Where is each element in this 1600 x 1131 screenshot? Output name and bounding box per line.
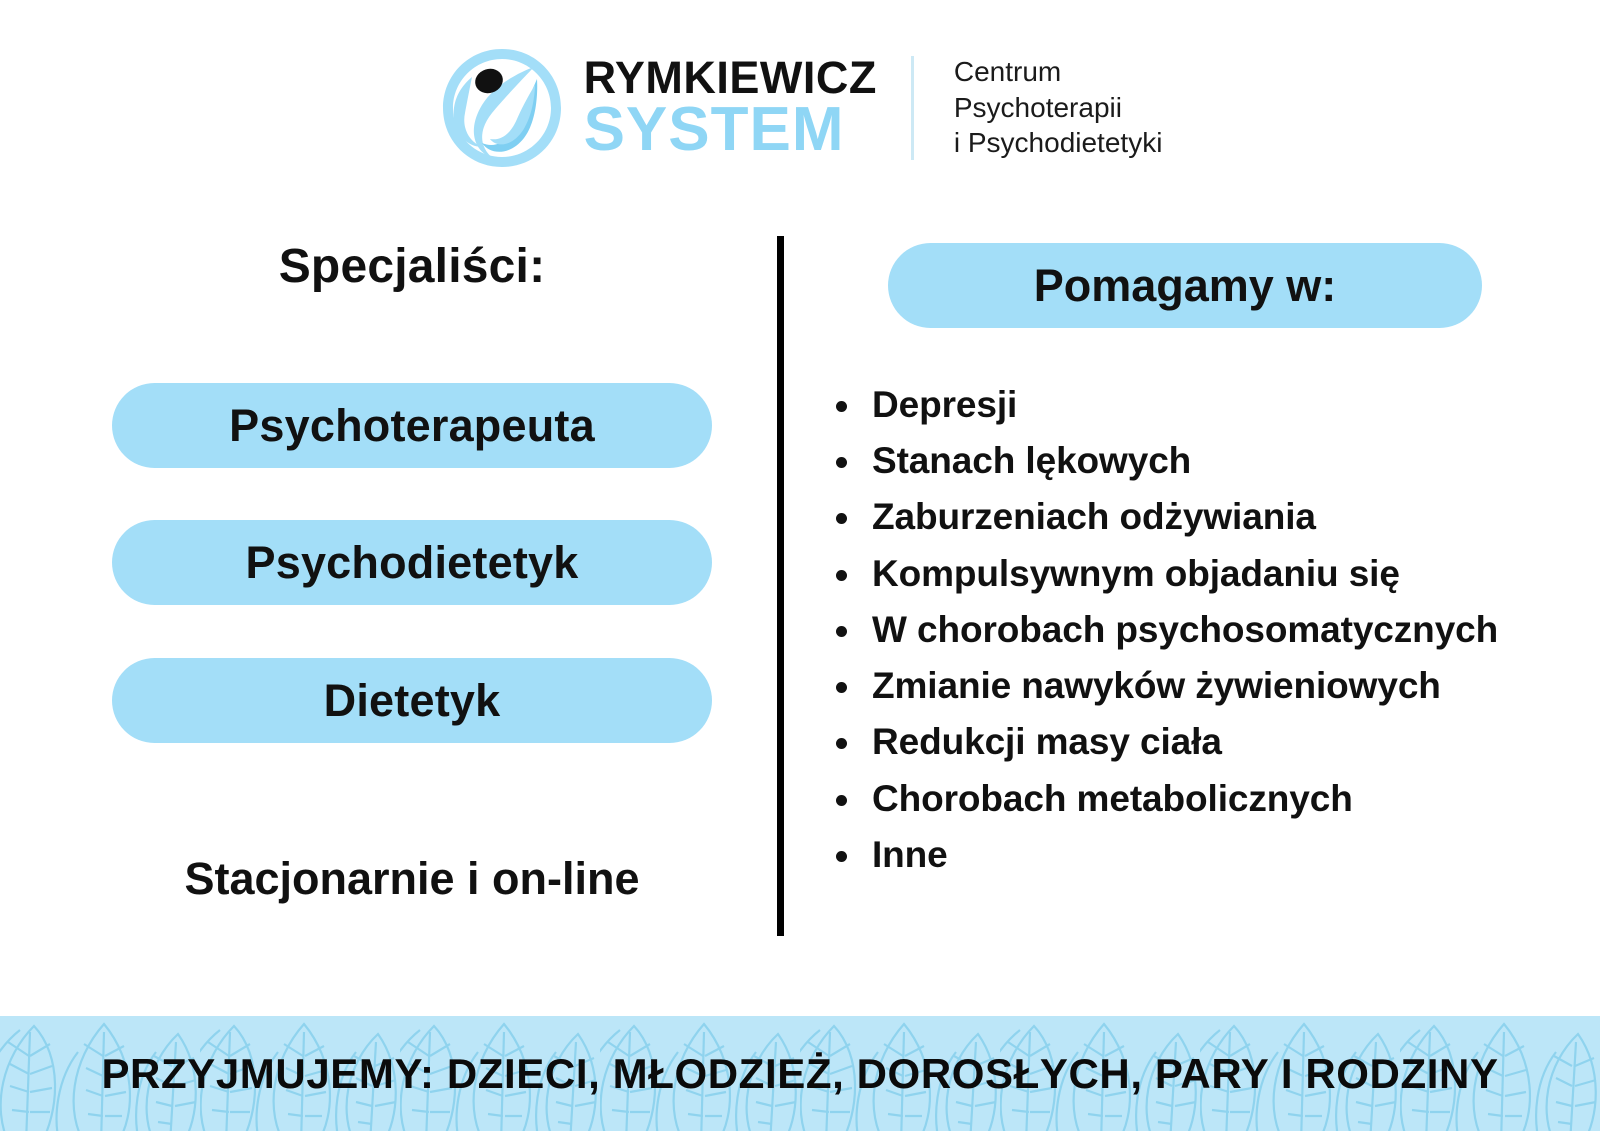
bullet-icon bbox=[836, 738, 847, 749]
bullet-icon bbox=[836, 570, 847, 581]
bullet-icon bbox=[836, 626, 847, 637]
specialists-heading: Specjaliści: bbox=[112, 239, 712, 294]
brand-header: RYMKIEWICZ SYSTEM Centrum Psychoterapii … bbox=[0, 0, 1600, 215]
specialist-pill-dietetyk[interactable]: Dietetyk bbox=[112, 658, 712, 743]
services-heading-label: Pomagamy w: bbox=[1034, 260, 1337, 312]
list-item: Kompulsywnym objadaniu się bbox=[814, 546, 1600, 602]
audience-banner: PRZYJMUJEMY: DZIECI, MŁODZIEŻ, DOROSŁYCH… bbox=[0, 1016, 1600, 1131]
bullet-icon bbox=[836, 682, 847, 693]
tagline-line-3: i Psychodietetyki bbox=[954, 125, 1163, 161]
list-item-label: Redukcji masy ciała bbox=[872, 721, 1222, 762]
list-item-label: Chorobach metabolicznych bbox=[872, 778, 1353, 819]
specialist-pill-psychoterapeuta[interactable]: Psychoterapeuta bbox=[112, 383, 712, 468]
logo-lockup: RYMKIEWICZ SYSTEM Centrum Psychoterapii … bbox=[438, 43, 1163, 173]
list-item: Redukcji masy ciała bbox=[814, 714, 1600, 770]
specialist-label: Psychodietetyk bbox=[246, 537, 579, 589]
list-item-label: Zaburzeniach odżywiania bbox=[872, 496, 1316, 537]
service-mode-note: Stacjonarnie i on-line bbox=[112, 853, 712, 905]
list-item: Inne bbox=[814, 827, 1600, 883]
column-divider bbox=[777, 236, 784, 936]
services-column: Pomagamy w: Depresji Stanach lękowych Za… bbox=[784, 225, 1600, 985]
bullet-icon bbox=[836, 795, 847, 806]
bullet-icon bbox=[836, 457, 847, 468]
poster-root: RYMKIEWICZ SYSTEM Centrum Psychoterapii … bbox=[0, 0, 1600, 1131]
bullet-icon bbox=[836, 851, 847, 862]
list-item-label: Kompulsywnym objadaniu się bbox=[872, 553, 1400, 594]
list-item: Zaburzeniach odżywiania bbox=[814, 489, 1600, 545]
specialist-pill-psychodietetyk[interactable]: Psychodietetyk bbox=[112, 520, 712, 605]
tagline-line-1: Centrum bbox=[954, 54, 1163, 90]
list-item-label: Inne bbox=[872, 834, 948, 875]
specialist-label: Dietetyk bbox=[324, 675, 501, 727]
brand-name-primary: RYMKIEWICZ bbox=[584, 57, 877, 98]
list-item: Chorobach metabolicznych bbox=[814, 771, 1600, 827]
list-item-label: Depresji bbox=[872, 384, 1017, 425]
audience-banner-text: PRZYJMUJEMY: DZIECI, MŁODZIEŻ, DOROSŁYCH… bbox=[0, 1016, 1600, 1131]
services-list: Depresji Stanach lękowych Zaburzeniach o… bbox=[814, 377, 1600, 883]
tagline-line-2: Psychoterapii bbox=[954, 90, 1163, 126]
list-item: Stanach lękowych bbox=[814, 433, 1600, 489]
bullet-icon bbox=[836, 513, 847, 524]
services-heading-pill: Pomagamy w: bbox=[888, 243, 1482, 328]
specialist-label: Psychoterapeuta bbox=[229, 400, 595, 452]
list-item: Depresji bbox=[814, 377, 1600, 433]
list-item: Zmianie nawyków żywieniowych bbox=[814, 658, 1600, 714]
bullet-icon bbox=[836, 401, 847, 412]
specialists-column: Specjaliści: Psychoterapeuta Psychodiete… bbox=[0, 225, 760, 985]
list-item-label: W chorobach psychosomatycznych bbox=[872, 609, 1498, 650]
brand-name-secondary: SYSTEM bbox=[584, 101, 877, 158]
wordmark: RYMKIEWICZ SYSTEM bbox=[584, 57, 877, 157]
list-item-label: Zmianie nawyków żywieniowych bbox=[872, 665, 1441, 706]
list-item: W chorobach psychosomatycznych bbox=[814, 602, 1600, 658]
water-drop-leaf-swirl-icon bbox=[438, 43, 566, 173]
brand-tagline: Centrum Psychoterapii i Psychodietetyki bbox=[954, 54, 1163, 161]
list-item-label: Stanach lękowych bbox=[872, 440, 1191, 481]
logo-vertical-divider bbox=[911, 56, 914, 160]
